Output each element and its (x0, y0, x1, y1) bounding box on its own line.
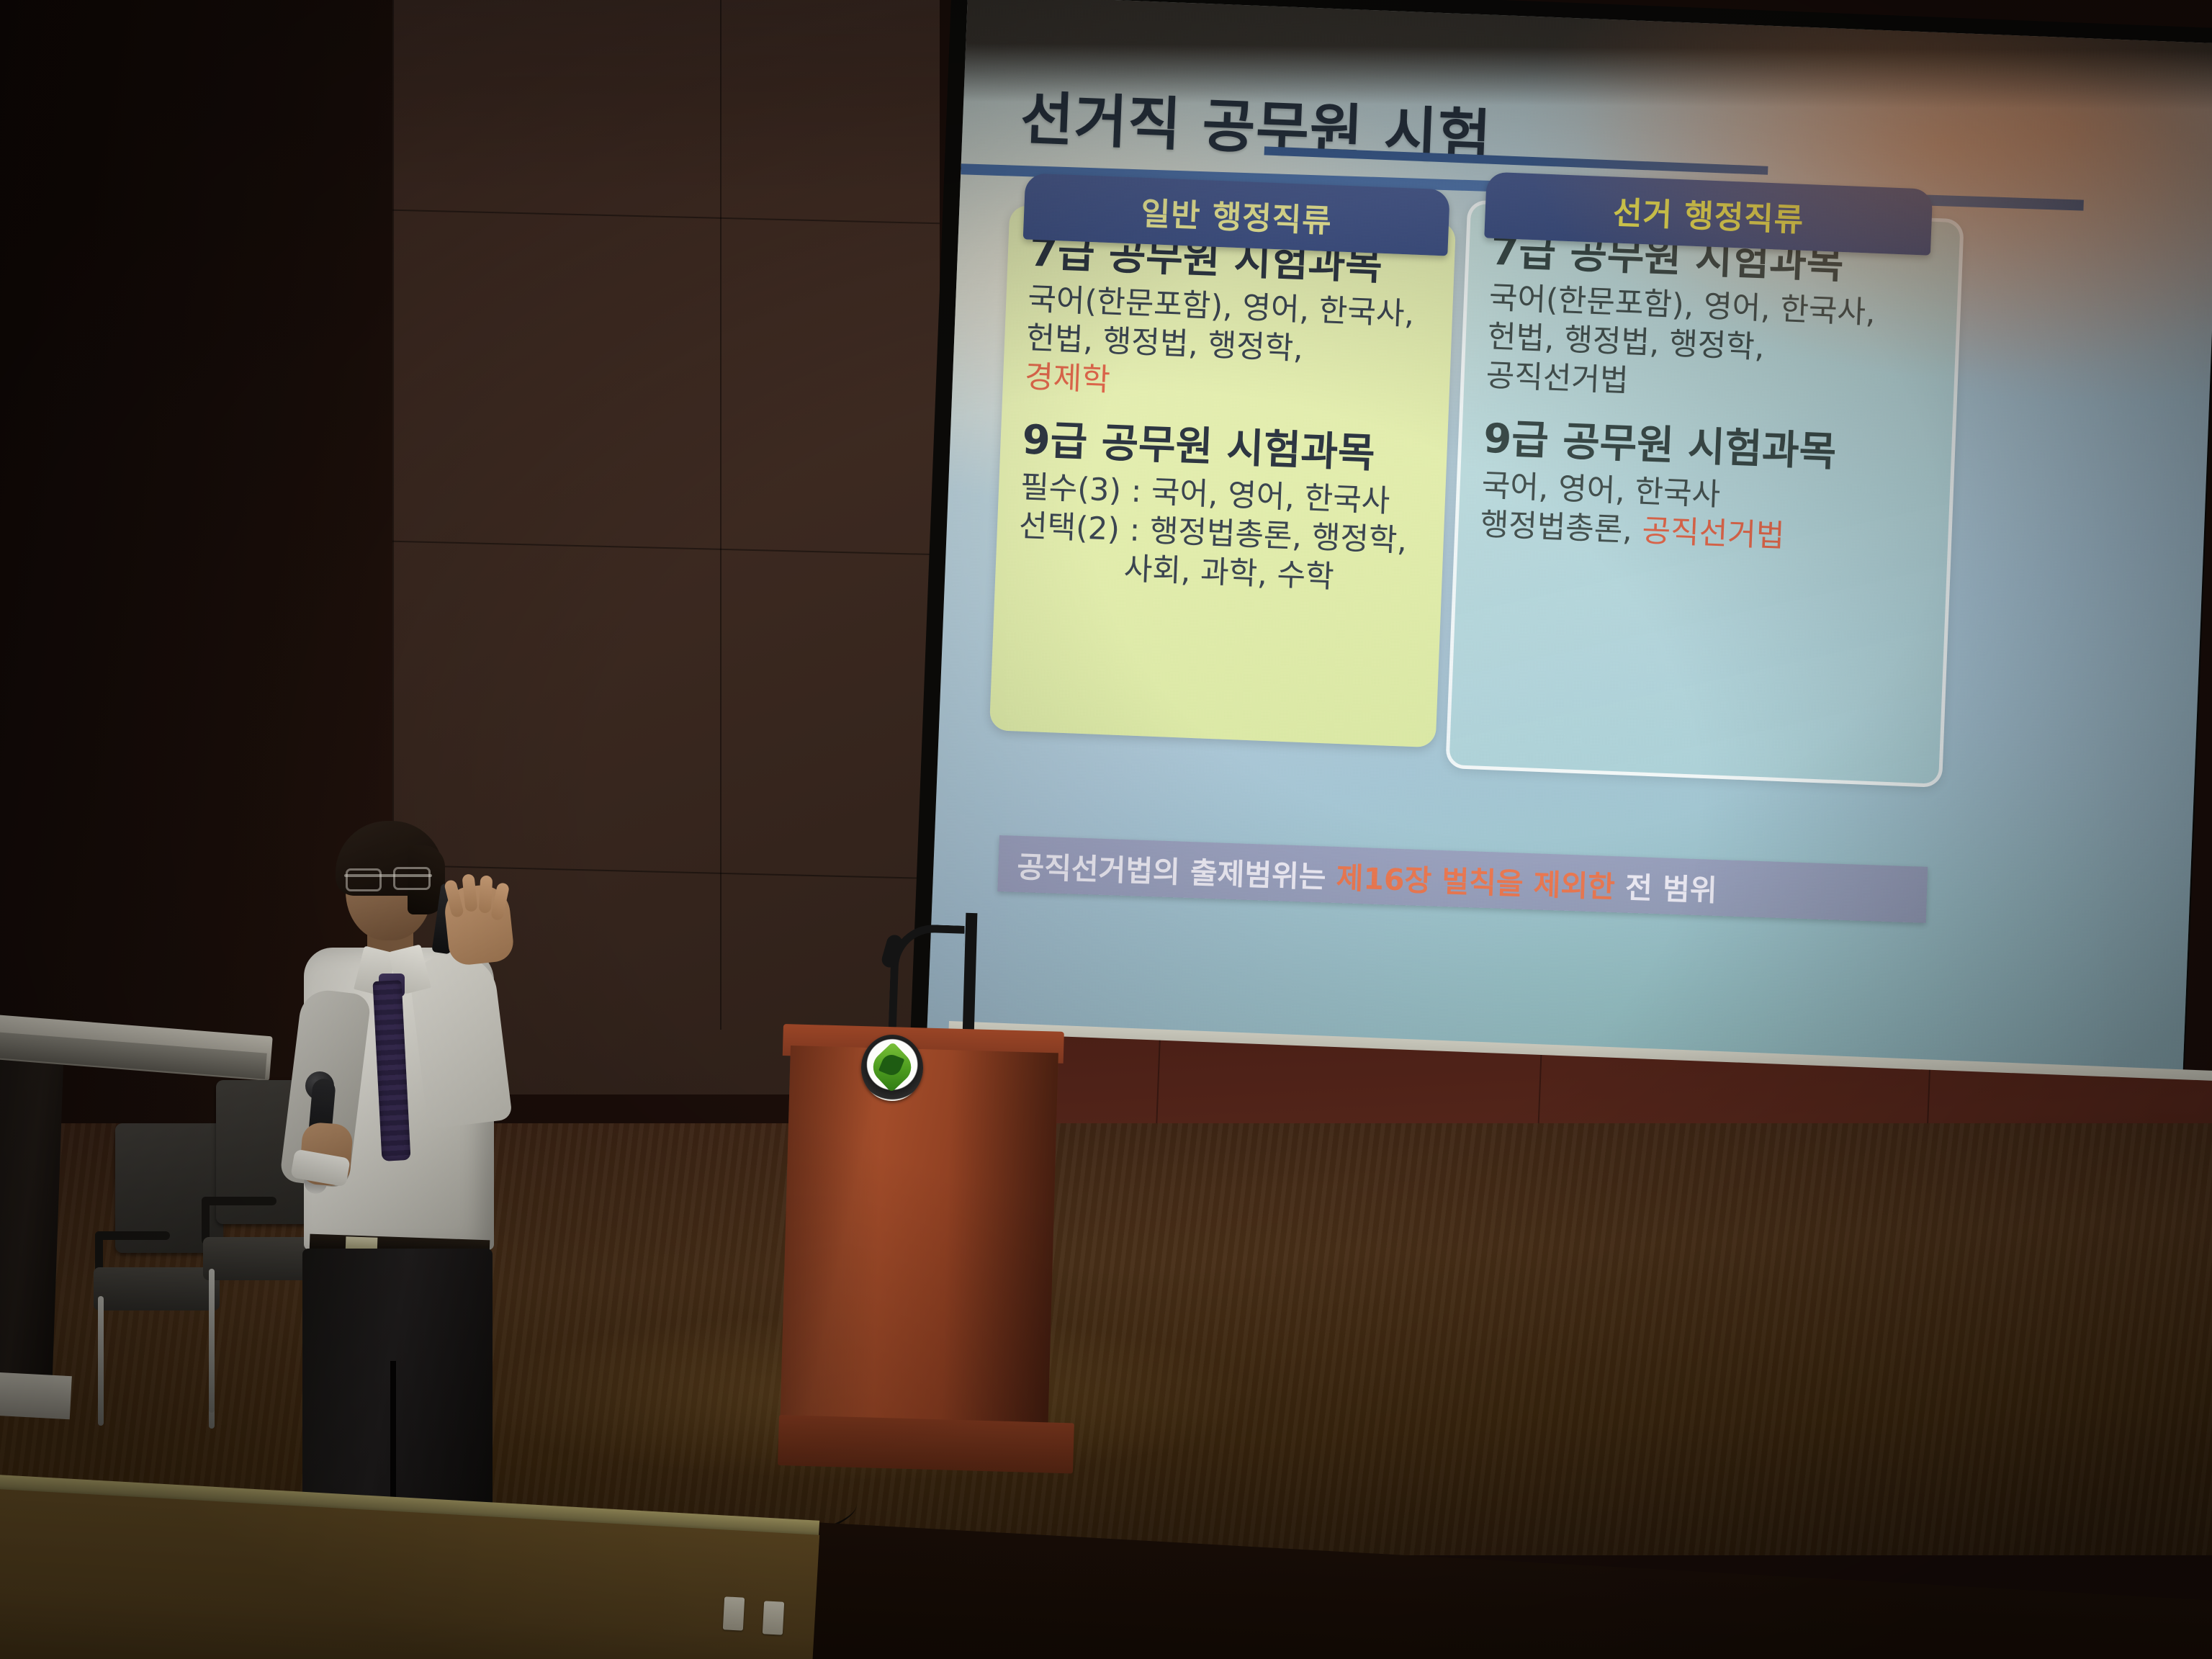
banner-prefix: 공직선거법의 출제범위는 (1017, 850, 1337, 895)
presenter (266, 814, 569, 1505)
chair-sled-leg (98, 1296, 104, 1426)
presenter-glasses-bridge (344, 874, 432, 877)
presenter-finger (479, 876, 493, 914)
projection-screen: 선거직 공무원 시험 7급 공무원 시험과목 국어(한문포함), 영어, 한국사… (925, 0, 2212, 1144)
wall-seam-vertical (720, 0, 721, 1030)
right-column-panel: 7급 공무원 시험과목 국어(한문포함), 영어, 한국사, 헌법, 행정법, … (1445, 199, 1964, 787)
slide-bottom-banner: 공직선거법의 출제범위는 제16장 벌칙을 제외한 전 범위 (997, 835, 1928, 923)
side-desk-foot (0, 1372, 72, 1419)
stage-outlet-plate[interactable] (763, 1601, 784, 1635)
screenshot-root: 선거직 공무원 시험 7급 공무원 시험과목 국어(한문포함), 영어, 한국사… (0, 0, 2212, 1659)
podium-body (780, 1046, 1058, 1434)
right-grade9-line-2-highlight: 공직선거법 (1642, 513, 1786, 554)
right-column-tab-label: 선거 행정직류 (1612, 186, 1805, 240)
chair-sled-leg (209, 1269, 215, 1413)
left-column-tab-label: 일반 행정직류 (1141, 188, 1334, 241)
banner-text: 공직선거법의 출제범위는 제16장 벌칙을 제외한 전 범위 (1017, 842, 1718, 909)
banner-suffix: 전 범위 (1614, 870, 1717, 908)
chair-seat (94, 1267, 220, 1310)
stage-outlet-plate[interactable] (723, 1596, 745, 1630)
left-column-panel: 7급 공무원 시험과목 국어(한문포함), 영어, 한국사, 헌법, 행정법, … (989, 205, 1456, 748)
chair-armrest (202, 1197, 276, 1205)
presenter-glasses-left-lens (346, 868, 382, 891)
presenter-glasses-right-lens (393, 867, 431, 890)
right-grade9-line-2-plain: 행정법총론, (1480, 507, 1643, 549)
chair-armrest (95, 1231, 170, 1240)
banner-highlight: 제16장 벌칙을 제외한 (1336, 860, 1616, 904)
